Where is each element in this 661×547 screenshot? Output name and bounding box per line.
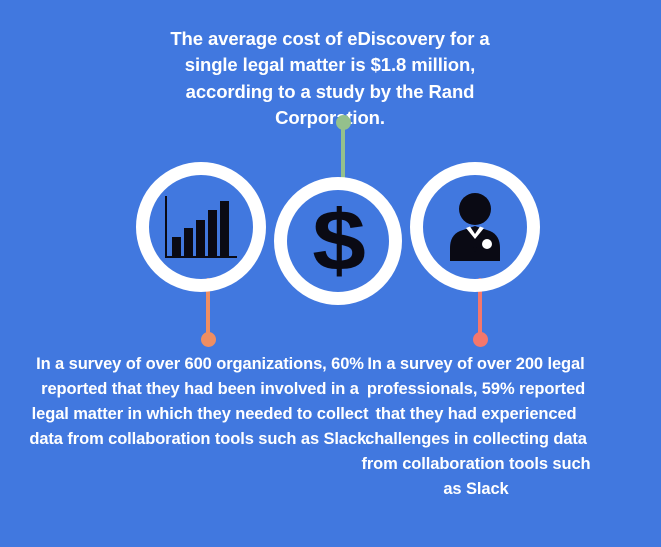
bar-chart-bar xyxy=(220,201,229,256)
bar-chart-bars xyxy=(172,198,234,256)
bar-chart-bar xyxy=(172,237,181,256)
businessman-icon xyxy=(442,193,508,261)
circle-bar-chart xyxy=(136,162,266,292)
bar-chart-y-axis xyxy=(165,196,167,256)
bar-chart-bar xyxy=(184,228,193,256)
connector-left-dot xyxy=(201,332,216,347)
circle-dollar-sign: $ xyxy=(274,177,402,305)
bar-chart-x-axis xyxy=(165,256,237,258)
stat-left-text: In a survey of over 600 organizations, 6… xyxy=(24,352,376,452)
circle-businessman xyxy=(410,162,540,292)
headline-text: The average cost of eDiscovery for a sin… xyxy=(150,26,510,131)
bar-chart-icon xyxy=(165,196,237,258)
bar-chart-bar xyxy=(208,210,217,256)
connector-right-dot xyxy=(473,332,488,347)
stat-right-text: In a survey of over 200 legal profession… xyxy=(356,352,596,502)
infographic-canvas: The average cost of eDiscovery for a sin… xyxy=(0,0,661,547)
bar-chart-bar xyxy=(196,220,205,256)
dollar-sign-icon: $ xyxy=(312,198,363,284)
